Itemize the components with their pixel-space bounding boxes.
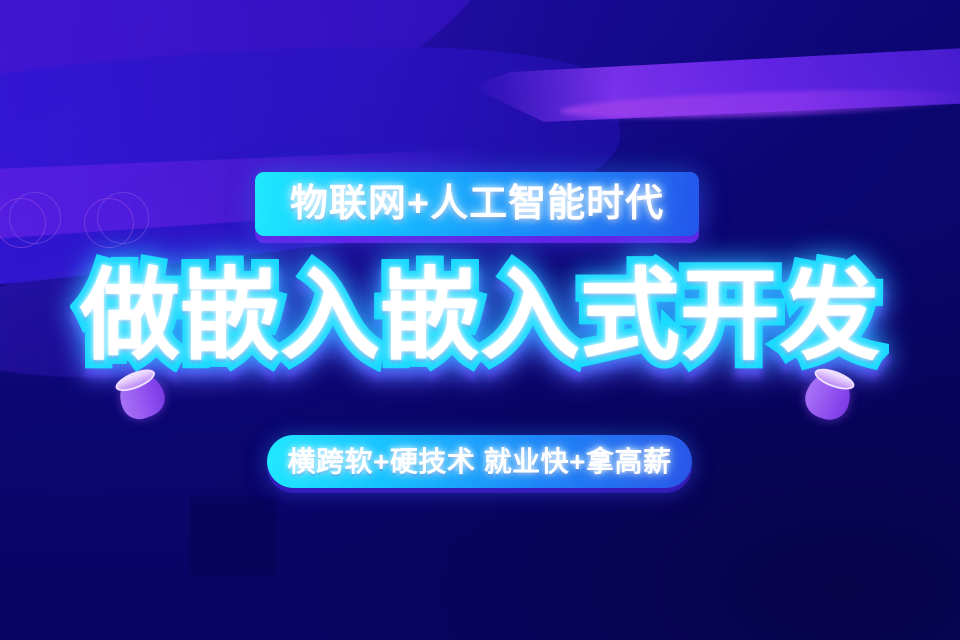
eyebrow-banner-text: 物联网+人工智能时代 (290, 185, 664, 223)
headline-block: 做嵌入嵌入式开发 做嵌入嵌入式开发 做嵌入嵌入式开发 (0, 252, 960, 380)
wave-ribbon-right-edge (560, 85, 960, 124)
wave-ribbon-right (469, 47, 960, 126)
poster-canvas: 物联网+人工智能时代 做嵌入嵌入式开发 做嵌入嵌入式开发 做嵌入嵌入式开发 横跨… (0, 0, 960, 640)
circle-outline-group-left (0, 192, 66, 252)
headline-text: 做嵌入嵌入式开发 (80, 260, 880, 372)
circle-outline-icon (84, 198, 134, 248)
circle-outline-icon (0, 198, 46, 248)
shade-block (190, 497, 276, 575)
circle-outline-icon (97, 192, 149, 244)
eyebrow-banner: 物联网+人工智能时代 (255, 172, 699, 236)
circle-outline-group-right (84, 192, 154, 252)
circle-outline-icon (9, 192, 61, 244)
page-title: 做嵌入嵌入式开发 做嵌入嵌入式开发 做嵌入嵌入式开发 (80, 261, 880, 371)
subtitle-pill: 横跨软+硬技术 就业快+拿高薪 (267, 435, 692, 488)
subtitle-pill-text: 横跨软+硬技术 就业快+拿高薪 (288, 448, 672, 476)
